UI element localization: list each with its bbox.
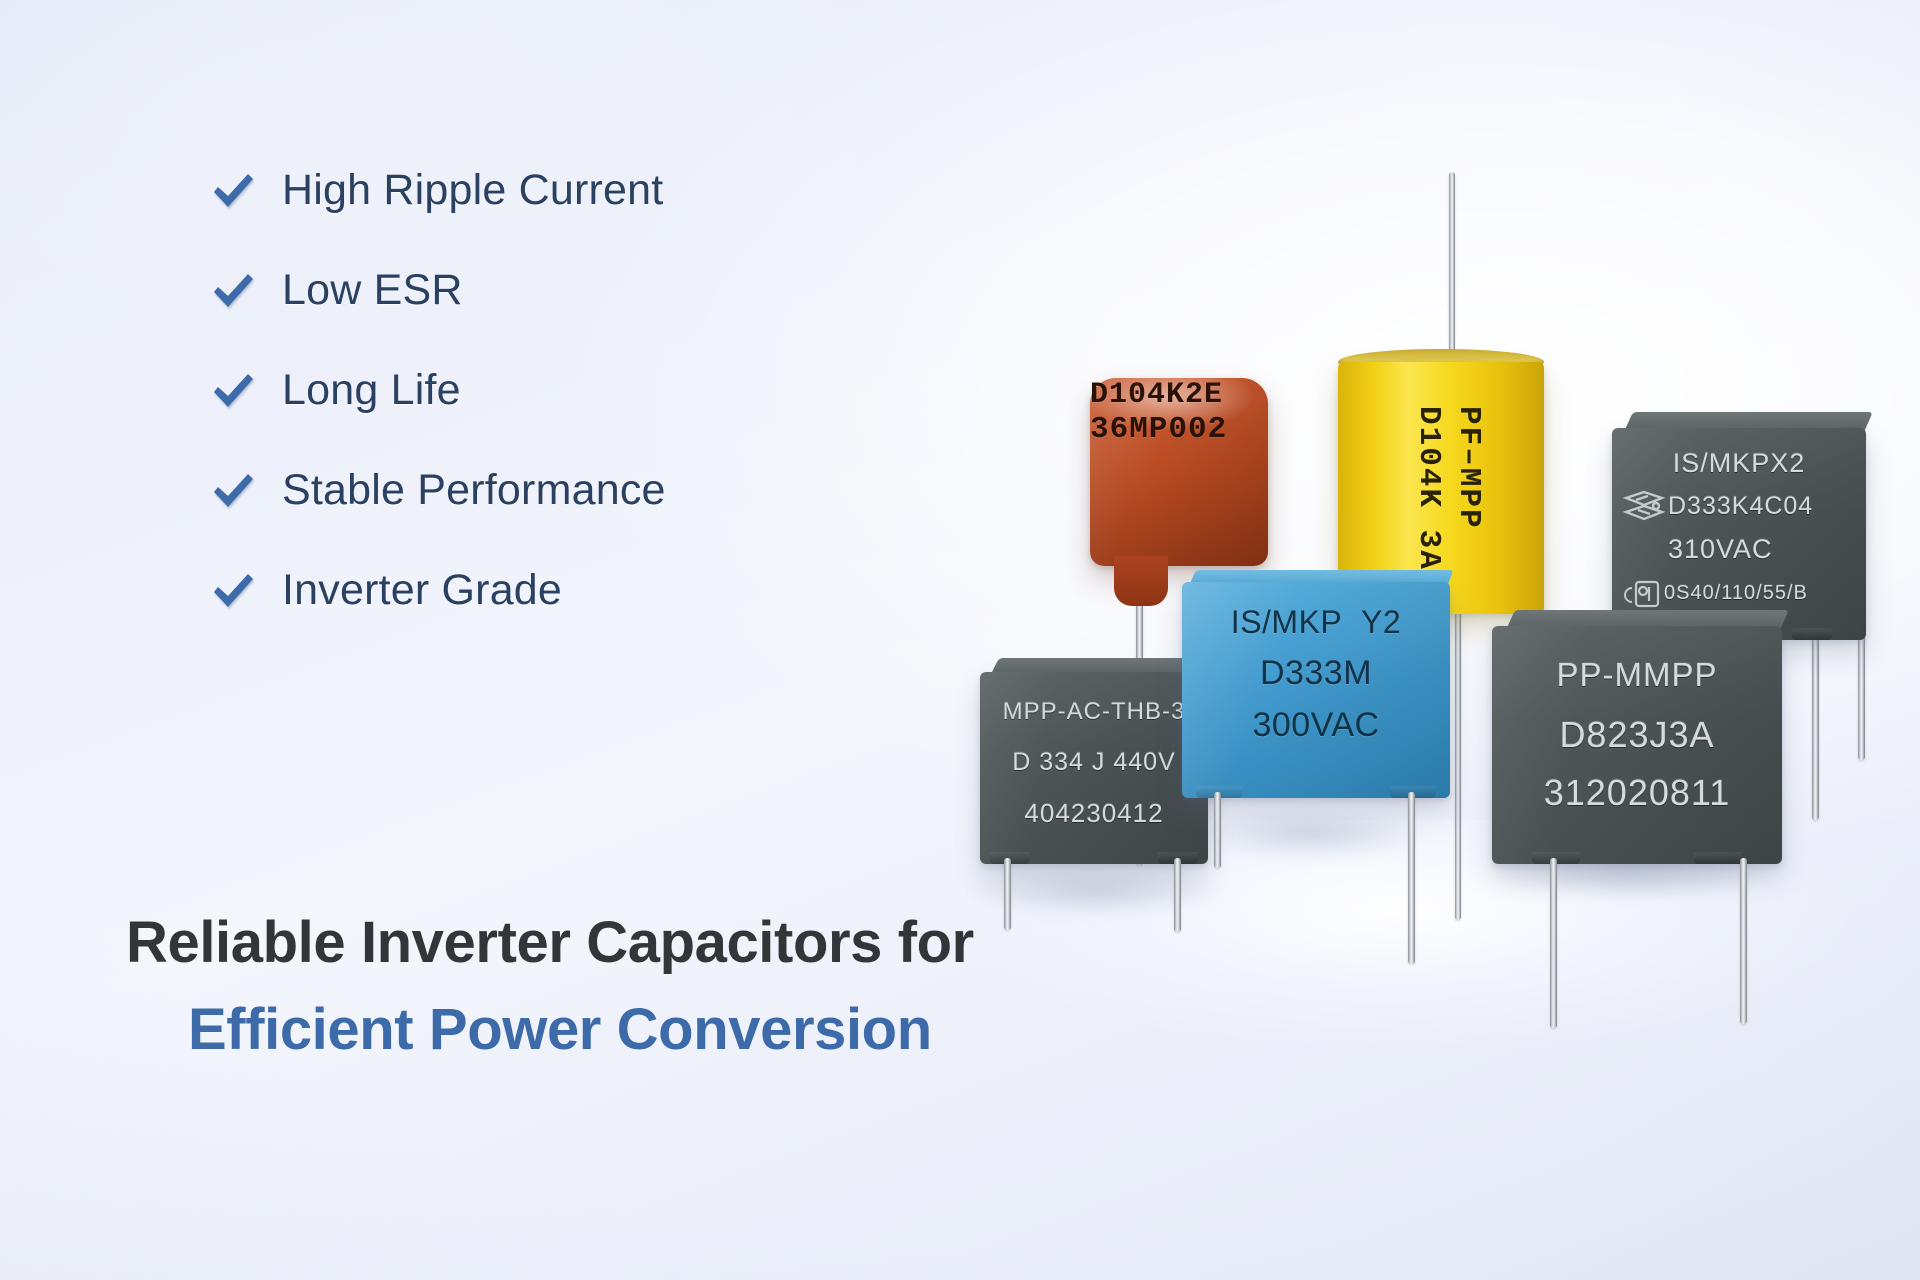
check-icon <box>210 167 256 213</box>
lead-wire <box>1740 858 1747 1024</box>
check-icon <box>210 267 256 313</box>
check-icon <box>210 467 256 513</box>
headline-line-2: Efficient Power Conversion <box>188 999 1206 1062</box>
cul-certification-mark <box>1624 578 1664 612</box>
enec-certification-mark <box>1622 488 1666 528</box>
lead-wire <box>1858 600 1865 760</box>
promo-banner: MPP-AC-THB-3 D 334 J 440V 404230412 D104… <box>0 0 1920 1280</box>
lead-wire <box>1408 792 1415 964</box>
feature-item[interactable]: Low ESR <box>210 240 910 340</box>
check-icon <box>210 367 256 413</box>
feature-label: Stable Performance <box>282 466 666 515</box>
feature-label: Low ESR <box>282 266 463 315</box>
headline-line-1: Reliable Inverter Capacitors for <box>126 912 1206 975</box>
yellow-cap-line-2: D104K 3A <box>1411 406 1446 571</box>
feature-item[interactable]: Long Life <box>210 340 910 440</box>
feature-item[interactable]: High Ripple Current <box>210 140 910 240</box>
yellow-cap-line-1: PF–MPP <box>1451 406 1486 530</box>
lead-wire <box>1136 595 1143 865</box>
lead-wire <box>1812 620 1819 820</box>
feature-label: Inverter Grade <box>282 566 562 615</box>
lead-wire <box>1449 172 1455 362</box>
feature-list: High Ripple Current Low ESR Long Life St… <box>210 140 910 640</box>
headline: Reliable Inverter Capacitors for Efficie… <box>126 912 1206 1061</box>
check-icon <box>210 567 256 613</box>
feature-label: High Ripple Current <box>282 166 663 215</box>
feature-label: Long Life <box>282 366 461 415</box>
feature-item[interactable]: Inverter Grade <box>210 540 910 640</box>
feature-item[interactable]: Stable Performance <box>210 440 910 540</box>
lead-wire <box>1550 858 1557 1028</box>
lead-wire <box>1214 792 1221 868</box>
lead-wire <box>1455 600 1461 920</box>
shadow <box>1160 800 1460 866</box>
shadow <box>1450 835 1810 907</box>
